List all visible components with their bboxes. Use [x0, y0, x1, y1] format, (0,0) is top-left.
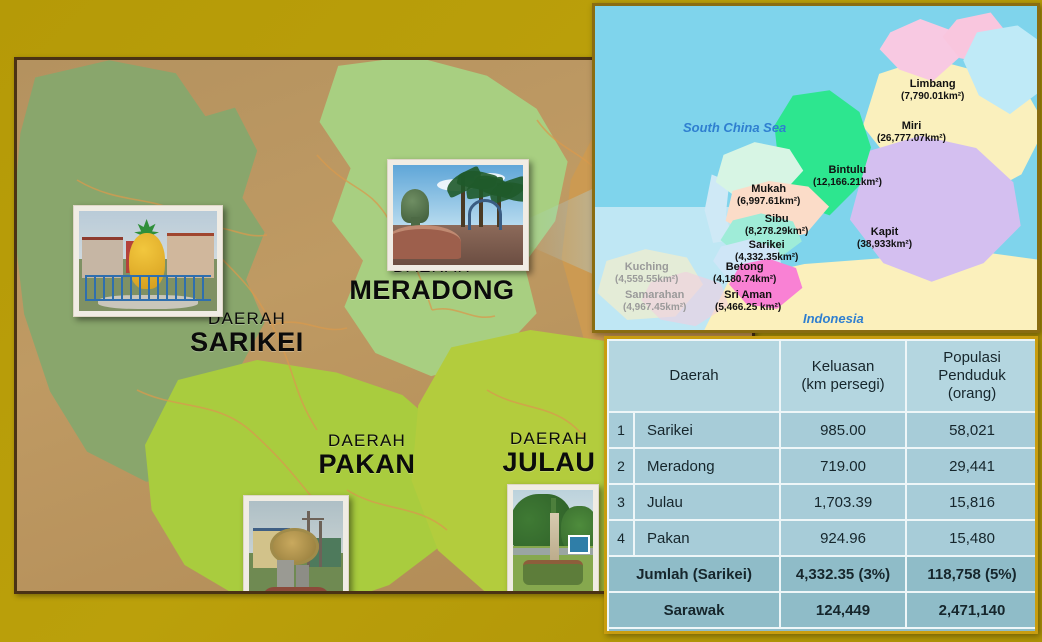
table-summary-row: Jumlah (Sarikei) 4,332.35 (3%) 118,758 (… — [608, 556, 1038, 592]
summary-area: 4,332.35 (3%) — [780, 556, 906, 592]
division-name: Samarahan — [623, 289, 686, 302]
table-row: 2 Meradong 719.00 29,441 — [608, 448, 1038, 484]
map-label-miri: Miri (26,777.07km²) — [877, 120, 946, 144]
pakan-durian-monument-photo — [243, 495, 349, 594]
row-index: 2 — [608, 448, 634, 484]
summary-label: Jumlah (Sarikei) — [608, 556, 780, 592]
table-state-row: Sarawak 124,449 2,471,140 — [608, 592, 1038, 628]
division-area: (6,997.61km²) — [737, 196, 800, 208]
division-name: Kapit — [857, 226, 912, 239]
map-label-kuching: Kuching (4,559.55km²) — [615, 261, 678, 285]
division-area: (4,967.45km²) — [623, 302, 686, 314]
sea-label-indonesia: Indonesia — [803, 311, 864, 326]
division-name: Betong — [713, 261, 776, 274]
division-area: (38,933km²) — [857, 239, 912, 251]
column-header-area-line1: Keluasan — [812, 358, 875, 375]
row-index: 3 — [608, 484, 634, 520]
table-row: 3 Julau 1,703.39 15,816 — [608, 484, 1038, 520]
state-label: Sarawak — [608, 592, 780, 628]
row-district: Julau — [634, 484, 780, 520]
division-area: (4,559.55km²) — [615, 274, 678, 286]
row-population: 15,480 — [906, 520, 1038, 556]
district-name: PAKAN — [282, 450, 452, 478]
sarawak-divisions-inset-map: South China Sea Indonesia Limbang (7,790… — [592, 3, 1040, 333]
column-header-district: Daerah — [608, 340, 780, 412]
column-header-population-line1: Populasi — [943, 349, 1001, 366]
row-area: 924.96 — [780, 520, 906, 556]
row-area: 1,703.39 — [780, 484, 906, 520]
map-label-sibu: Sibu (8,278.29km²) — [745, 213, 808, 237]
summary-population: 118,758 (5%) — [906, 556, 1038, 592]
division-area: (5,466.25 km²) — [715, 302, 781, 314]
division-area: (12,166.21km²) — [813, 177, 882, 189]
column-header-population-line2: Penduduk (orang) — [938, 367, 1006, 402]
division-name: Miri — [877, 120, 946, 133]
table-row: 1 Sarikei 985.00 58,021 — [608, 412, 1038, 448]
district-statistics-table: Daerah Keluasan (km persegi) Populasi Pe… — [607, 339, 1038, 634]
map-label-sarikei: Sarikei (4,332.35km²) — [735, 239, 798, 263]
division-name: Sibu — [745, 213, 808, 226]
table-row: 4 Pakan 924.96 15,480 — [608, 520, 1038, 556]
column-header-area: Keluasan (km persegi) — [780, 340, 906, 412]
state-area: 124,449 — [780, 592, 906, 628]
map-label-mukah: Mukah (6,997.61km²) — [737, 183, 800, 207]
district-statistics-table-panel: Daerah Keluasan (km persegi) Populasi Pe… — [604, 336, 1038, 634]
state-population: 2,471,140 — [906, 592, 1038, 628]
map-label-bintulu: Bintulu (12,166.21km²) — [813, 164, 882, 188]
division-name: Sarikei — [735, 239, 798, 252]
district-kicker: DAERAH — [282, 432, 452, 450]
map-label-kapit: Kapit (38,933km²) — [857, 226, 912, 250]
division-name: Sri Aman — [715, 289, 781, 302]
row-area: 719.00 — [780, 448, 906, 484]
division-name: Mukah — [737, 183, 800, 196]
row-district: Pakan — [634, 520, 780, 556]
map-label-sri-aman: Sri Aman (5,466.25 km²) — [715, 289, 781, 313]
map-label-limbang: Limbang (7,790.01km²) — [901, 78, 964, 102]
district-label-pakan: DAERAH PAKAN — [282, 432, 452, 478]
column-header-population: Populasi Penduduk (orang) — [906, 340, 1038, 412]
district-name: SARIKEI — [157, 328, 337, 356]
row-index: 1 — [608, 412, 634, 448]
district-name: MERADONG — [322, 276, 542, 304]
row-district: Sarikei — [634, 412, 780, 448]
column-header-area-line2: (km persegi) — [801, 376, 884, 393]
sea-label-south-china-sea: South China Sea — [683, 120, 786, 135]
row-population: 15,816 — [906, 484, 1038, 520]
map-label-betong: Betong (4,180.74km²) — [713, 261, 776, 285]
table-header-row: Daerah Keluasan (km persegi) Populasi Pe… — [608, 340, 1038, 412]
row-area: 985.00 — [780, 412, 906, 448]
row-index: 4 — [608, 520, 634, 556]
sarikei-pineapple-monument-photo — [73, 205, 223, 317]
division-name: Kuching — [615, 261, 678, 274]
row-population: 58,021 — [906, 412, 1038, 448]
julau-town-monument-photo — [507, 484, 599, 594]
division-area: (26,777.07km²) — [877, 133, 946, 145]
table-source-row: Sumber: Bancian Penduduk 2010 — [608, 628, 1038, 634]
division-name: Bintulu — [813, 164, 882, 177]
division-area: (8,278.29km²) — [745, 226, 808, 238]
row-district: Meradong — [634, 448, 780, 484]
table-source-note: Sumber: Bancian Penduduk 2010 — [608, 628, 1038, 634]
row-population: 29,441 — [906, 448, 1038, 484]
division-area: (7,790.01km²) — [901, 91, 964, 103]
map-label-samarahan: Samarahan (4,967.45km²) — [623, 289, 686, 313]
division-name: Limbang — [901, 78, 964, 91]
division-area: (4,180.74km²) — [713, 274, 776, 286]
meradong-waterfront-plaza-photo — [387, 159, 529, 271]
